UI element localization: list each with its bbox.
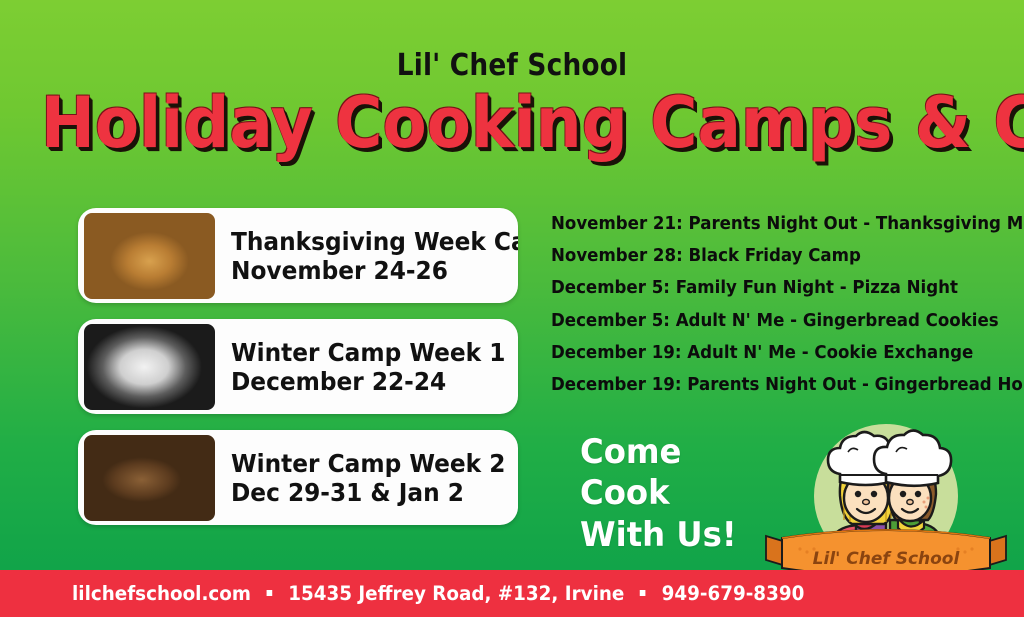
event-item: November 21: Parents Night Out - Thanksg… [551, 214, 979, 234]
footer-address: 15435 Jeffrey Road, #132, Irvine [288, 582, 624, 605]
camp-dates: December 22-24 [231, 367, 505, 396]
event-list: November 21: Parents Night Out - Thanksg… [551, 214, 1001, 407]
event-item: December 19: Parents Night Out - Gingerb… [551, 375, 979, 395]
lil-chef-school-logo: Lil' Chef School [760, 418, 1012, 588]
event-item: December 5: Adult N' Me - Gingerbread Co… [551, 311, 979, 331]
camp-dates: November 24-26 [231, 256, 518, 285]
event-item: November 28: Black Friday Camp [551, 246, 979, 266]
camp-card-list: Thanksgiving Week Camp November 24-26 Wi… [78, 208, 518, 541]
camp-dates: Dec 29-31 & Jan 2 [231, 478, 505, 507]
flyer-poster: Lil' Chef School Holiday Cooking Camps &… [0, 0, 1024, 617]
event-item: December 5: Family Fun Night - Pizza Nig… [551, 278, 979, 298]
bullet-separator-icon [640, 590, 646, 596]
camp-card[interactable]: Thanksgiving Week Camp November 24-26 [78, 208, 518, 303]
crinkle-cookies-photo [84, 324, 215, 410]
camp-name: Winter Camp Week 2 [231, 449, 505, 478]
camp-name: Winter Camp Week 1 [231, 338, 505, 367]
page-title: Holiday Cooking Camps & Classes [41, 88, 983, 158]
footer-phone[interactable]: 949-679-8390 [662, 582, 805, 605]
logo-ribbon-text: Lil' Chef School [813, 549, 961, 569]
bullet-separator-icon [267, 590, 273, 596]
call-to-action: Come Cook With Us! [580, 432, 780, 556]
cta-line-1: Come Cook [580, 432, 780, 515]
camp-card-text: Winter Camp Week 2 Dec 29-31 & Jan 2 [231, 449, 505, 507]
camp-card-text: Winter Camp Week 1 December 22-24 [231, 338, 505, 396]
footer-website[interactable]: lilchefschool.com [72, 582, 251, 605]
camp-card[interactable]: Winter Camp Week 2 Dec 29-31 & Jan 2 [78, 430, 518, 525]
event-item: December 19: Adult N' Me - Cookie Exchan… [551, 343, 979, 363]
brand-name: Lil' Chef School [61, 48, 962, 83]
camp-card-text: Thanksgiving Week Camp November 24-26 [231, 227, 518, 285]
camp-name: Thanksgiving Week Camp [231, 227, 518, 256]
footer-bar: lilchefschool.com 15435 Jeffrey Road, #1… [0, 570, 1024, 617]
beef-stroganoff-photo [84, 435, 215, 521]
camp-card[interactable]: Winter Camp Week 1 December 22-24 [78, 319, 518, 414]
cta-line-2: With Us! [580, 515, 780, 556]
footer-contact: lilchefschool.com 15435 Jeffrey Road, #1… [72, 582, 804, 605]
roast-turkey-photo [84, 213, 215, 299]
